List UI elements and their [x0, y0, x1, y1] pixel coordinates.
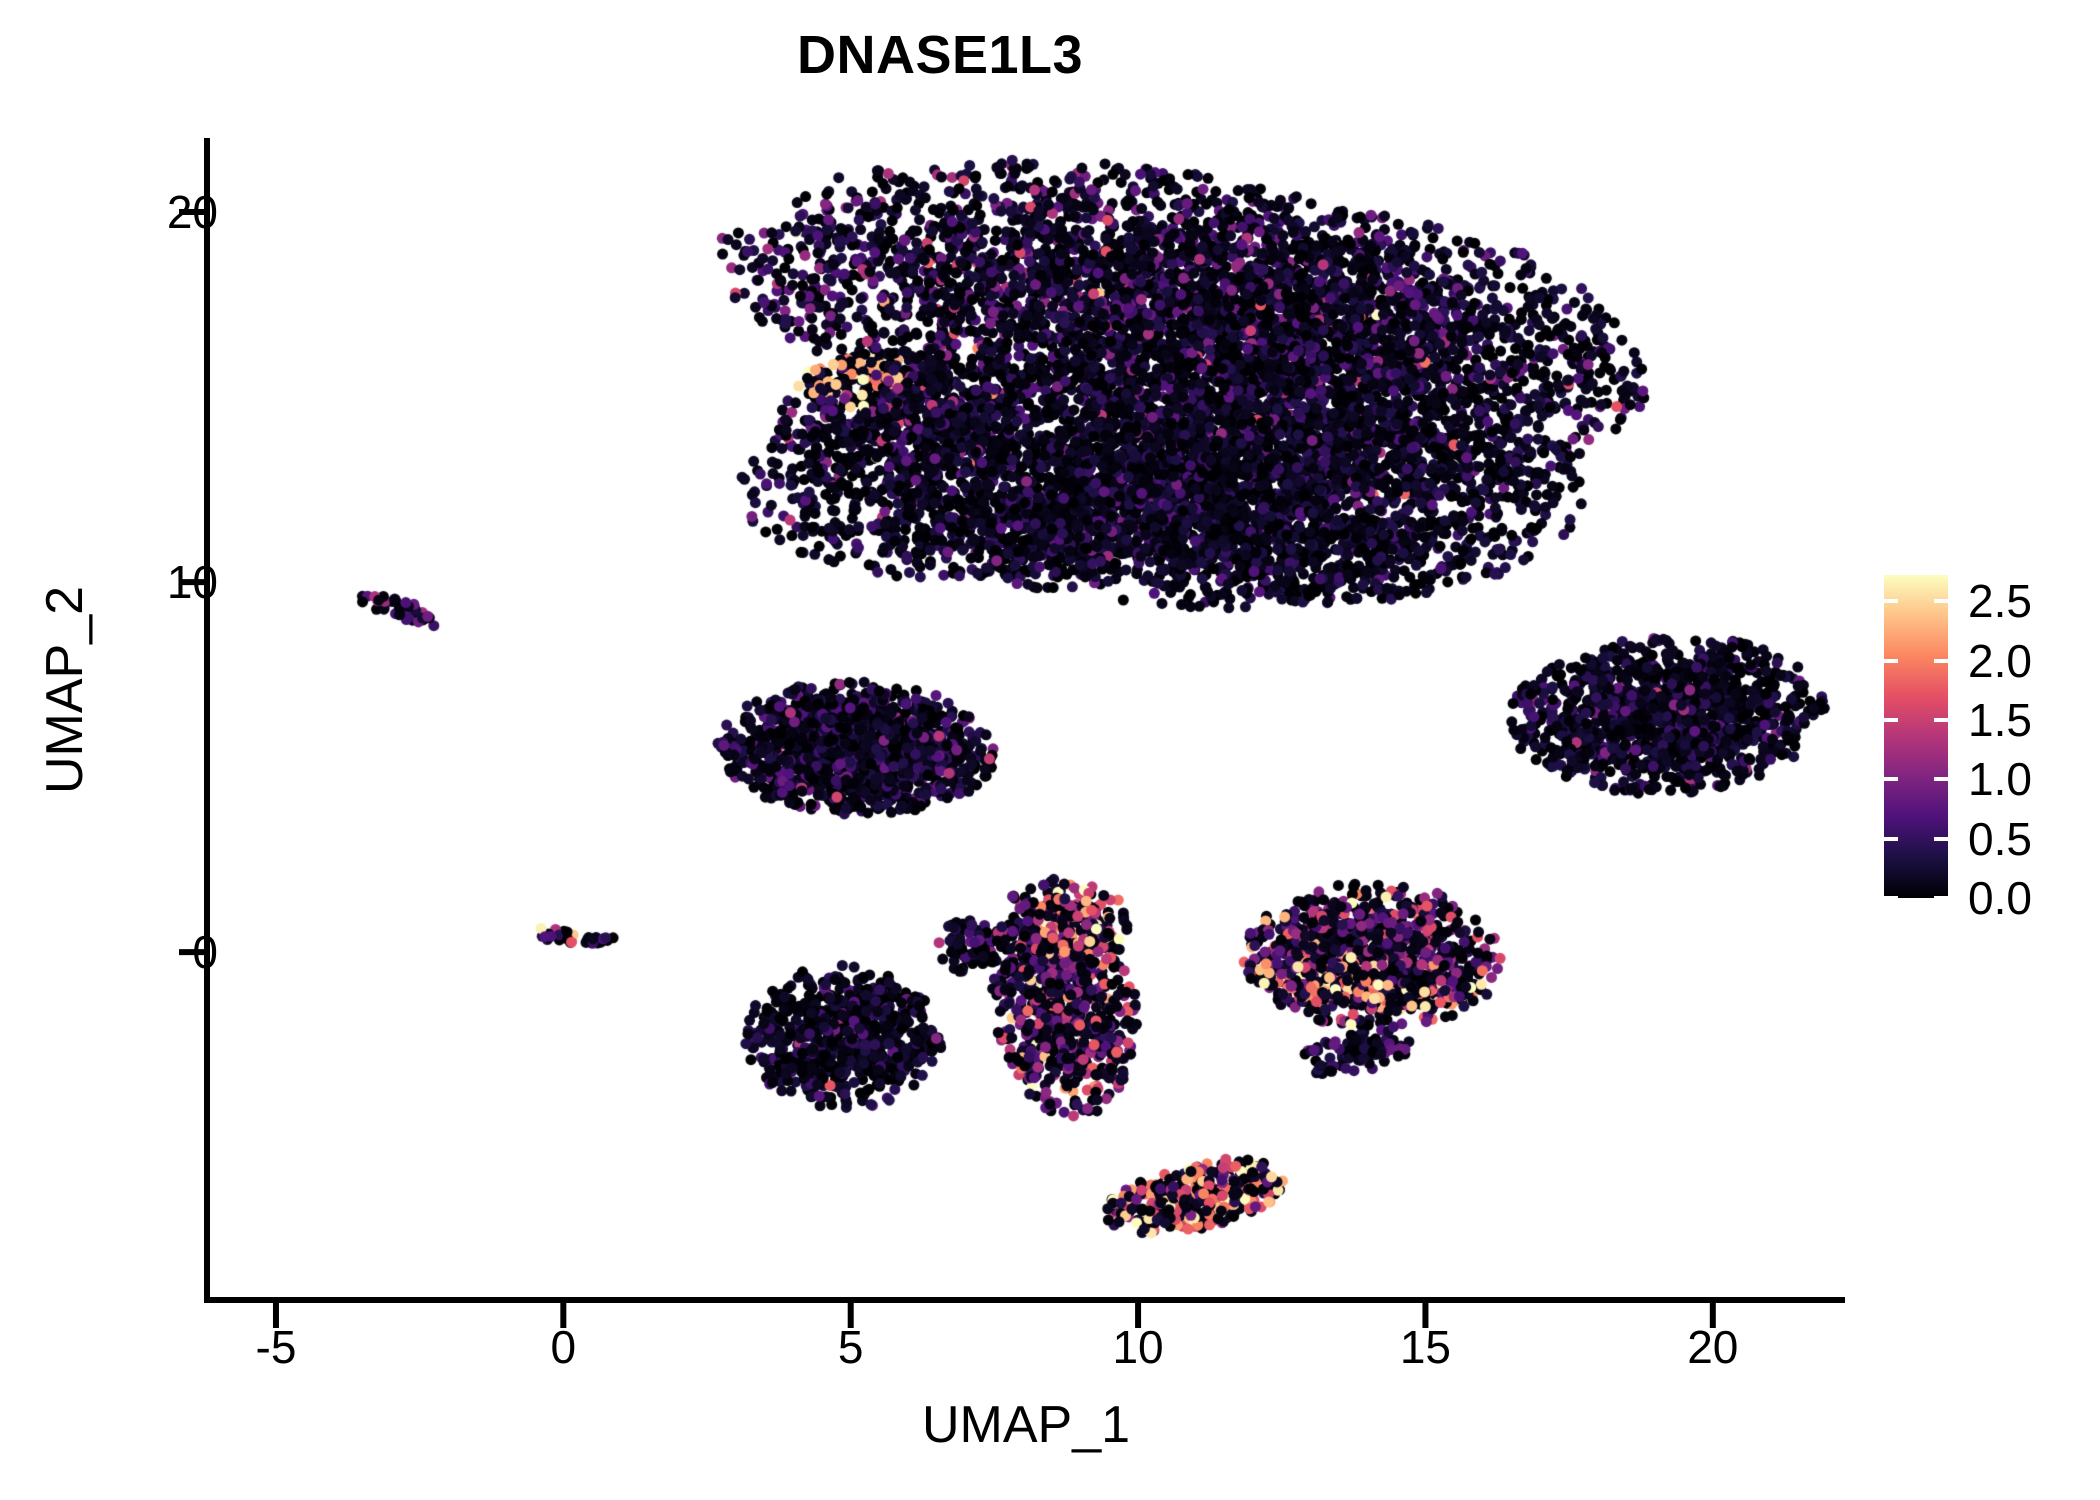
legend-tick-label: 2.5 [1968, 574, 2032, 628]
x-tick-label: -5 [256, 1320, 297, 1374]
x-tick-label: 0 [551, 1320, 577, 1374]
legend-tick-mark [1934, 896, 1948, 900]
y-axis-title: UMAP_2 [35, 370, 95, 1010]
legend-tick-label: 0.5 [1968, 812, 2032, 866]
x-axis-title: UMAP_1 [207, 1395, 1845, 1455]
y-tick-label: 20 [167, 185, 218, 239]
y-tick-label: 0 [192, 925, 218, 979]
legend-tick-mark [1934, 718, 1948, 722]
y-tick-label: 10 [167, 555, 218, 609]
legend-tick-mark [1934, 659, 1948, 663]
x-tick-label: 15 [1400, 1320, 1451, 1374]
x-tick-label: 20 [1687, 1320, 1738, 1374]
legend-tick-label: 2.0 [1968, 634, 2032, 688]
legend-tick-mark [1884, 599, 1898, 603]
scatter-plot-canvas [0, 0, 2100, 1500]
legend-tick-label: 1.5 [1968, 693, 2032, 747]
legend-tick-mark [1934, 837, 1948, 841]
legend-tick-mark [1884, 837, 1898, 841]
legend-tick-mark [1884, 777, 1898, 781]
x-tick-label: 10 [1112, 1320, 1163, 1374]
legend-tick-label: 0.0 [1968, 871, 2032, 925]
legend-tick-mark [1884, 659, 1898, 663]
legend-tick-mark [1884, 896, 1898, 900]
legend-colorbar [1884, 575, 1948, 898]
legend-tick-mark [1934, 599, 1948, 603]
umap-feature-plot: DNASE1L3 -50510152001020 UMAP_1 UMAP_2 0… [0, 0, 2100, 1500]
x-tick-label: 5 [838, 1320, 864, 1374]
legend-tick-mark [1884, 718, 1898, 722]
legend-tick-mark [1934, 777, 1948, 781]
legend-tick-label: 1.0 [1968, 752, 2032, 806]
